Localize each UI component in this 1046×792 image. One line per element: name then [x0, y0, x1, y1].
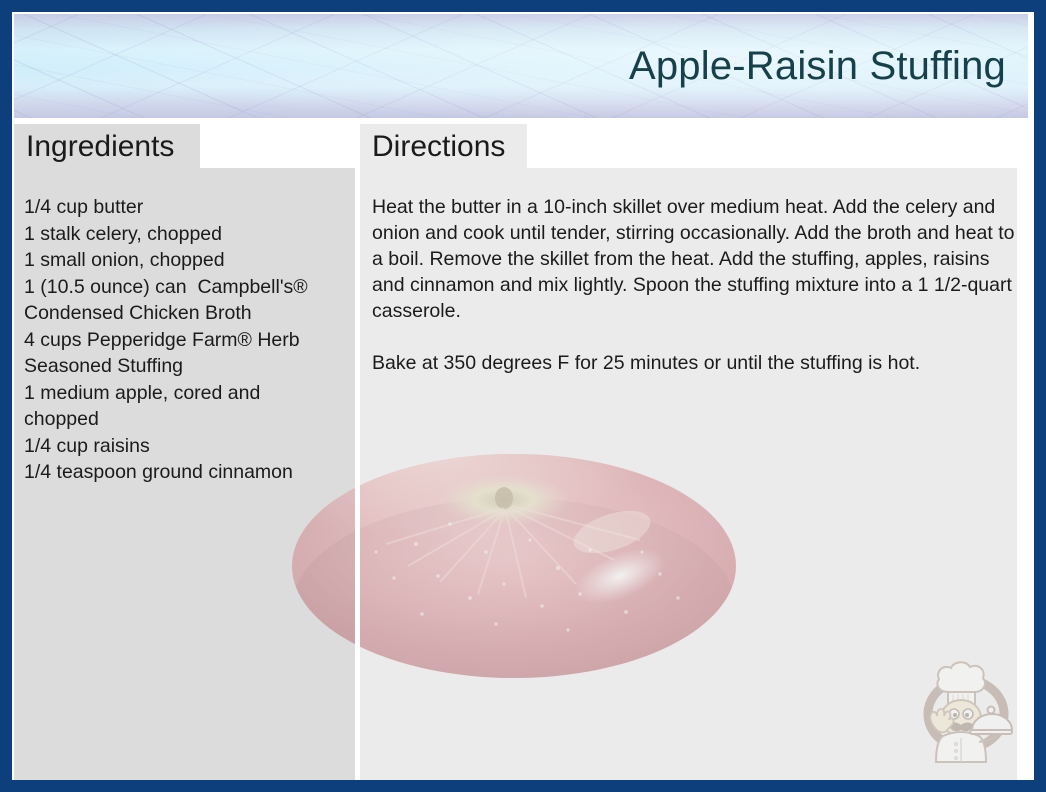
ingredient-item: 1 small onion, chopped [24, 247, 346, 274]
directions-paragraph: Bake at 350 degrees F for 25 minutes or … [372, 350, 1020, 376]
header-banner: Apple-Raisin Stuffing [14, 14, 1028, 118]
ingredient-item: 1/4 cup raisins [24, 433, 346, 460]
ingredient-item: 4 cups Pepperidge Farm® Herb Seasoned St… [24, 327, 346, 380]
tab-directions[interactable]: Directions [360, 124, 527, 170]
slide-page: Apple-Raisin Stuffing [12, 12, 1034, 780]
directions-paragraph: Heat the butter in a 10-inch skillet ove… [372, 194, 1020, 324]
ingredient-item: 1/4 teaspoon ground cinnamon [24, 459, 346, 486]
tab-ingredients[interactable]: Ingredients [14, 124, 200, 170]
ingredient-item: 1/4 cup butter [24, 194, 346, 221]
ingredient-item: 1 medium apple, cored and chopped [24, 380, 346, 433]
page-title: Apple-Raisin Stuffing [629, 42, 1006, 90]
directions-text: Heat the butter in a 10-inch skillet ove… [372, 194, 1020, 376]
recipe-slide: Apple-Raisin Stuffing [0, 0, 1046, 792]
ingredient-item: 1 (10.5 ounce) can Campbell's® Condensed… [24, 274, 346, 327]
ingredients-list: 1/4 cup butter1 stalk celery, chopped1 s… [24, 194, 346, 486]
ingredient-item: 1 stalk celery, chopped [24, 221, 346, 248]
panel-divider [355, 168, 360, 780]
